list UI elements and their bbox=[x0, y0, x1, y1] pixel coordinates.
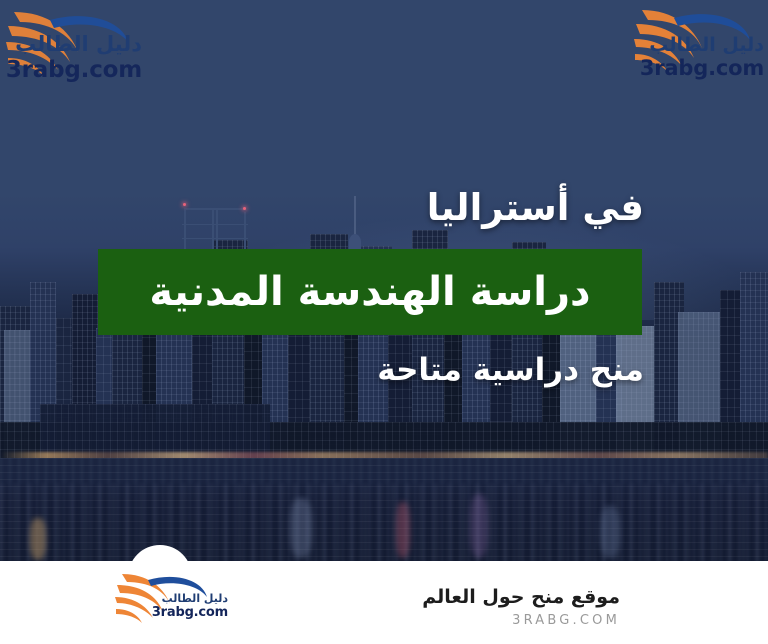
watermark-domain-text: 3rabg.com bbox=[6, 59, 142, 82]
footer-domain: 3RABG.COM bbox=[512, 613, 620, 628]
headline-banner: دراسة الهندسة المدنية bbox=[98, 249, 642, 335]
footer-logo: دليل الطالب 3rabg.com bbox=[112, 568, 224, 634]
poster: دليل الطالب 3rabg.com دليل الطالب 3rabg.… bbox=[0, 0, 768, 644]
watermark-arabic-text: دليل الطالب bbox=[640, 36, 764, 55]
footer-tagline: موقع منح حول العالم bbox=[422, 586, 620, 608]
watermark-domain-text: 3rabg.com bbox=[640, 58, 764, 79]
footer-logo-domain: 3rabg.com bbox=[152, 606, 228, 619]
headline-line-1: في أستراليا bbox=[427, 186, 644, 229]
footer-logo-arabic: دليل الطالب bbox=[152, 593, 228, 604]
watermark-arabic-text: دليل الطالب bbox=[6, 34, 142, 55]
watermark-logo-top-right: دليل الطالب 3rabg.com bbox=[630, 4, 768, 88]
headline-line-3: منح دراسية متاحة bbox=[377, 352, 644, 388]
headline-banner-text: دراسة الهندسة المدنية bbox=[149, 269, 590, 315]
watermark-logo-top-left: دليل الطالب 3rabg.com bbox=[4, 4, 164, 90]
antenna-mast bbox=[354, 196, 356, 244]
water-reflection bbox=[0, 458, 768, 562]
footer-bar: دليل الطالب 3rabg.com موقع منح حول العال… bbox=[0, 561, 768, 644]
